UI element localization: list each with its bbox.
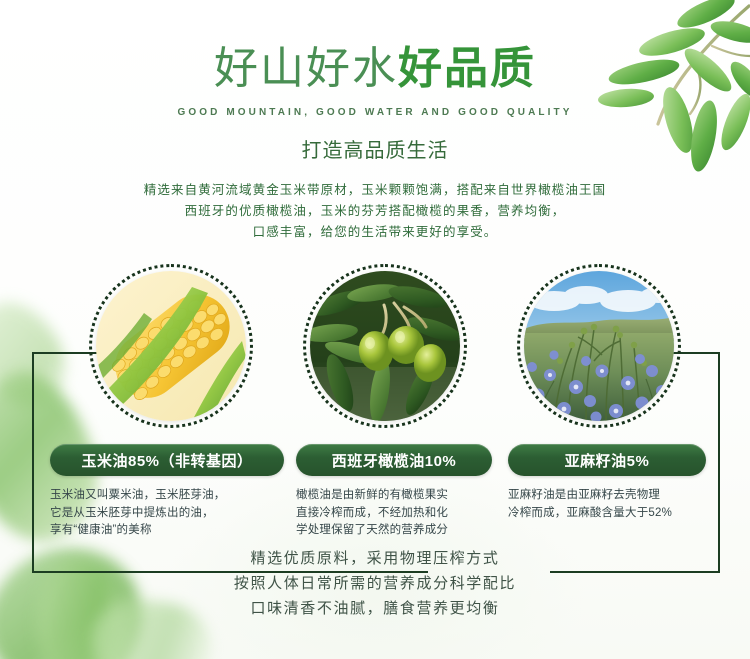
blurb-line: 玉米油又叫粟米油，玉米胚芽油，: [50, 487, 276, 505]
description-line: 口感丰富，给您的生活带来更好的享受。: [0, 222, 750, 243]
footer-line: 精选优质原料，采用物理压榨方式: [0, 546, 750, 571]
title-part-1: 好山好水: [214, 44, 398, 93]
ingredient-image-flax: [524, 271, 674, 421]
ingredient-blurb-flax: 亚麻籽油是由亚麻籽去壳物理 冷榨而成，亚麻酸含量大于52%: [508, 487, 718, 522]
subtitle-english: GOOD MOUNTAIN, GOOD WATER AND GOOD QUALI…: [0, 107, 750, 118]
subtitle-chinese: 打造高品质生活: [0, 134, 750, 163]
ingredient-pill-corn[interactable]: 玉米油85%（非转基因）: [50, 444, 284, 476]
blurb-line: 它是从玉米胚芽中提炼出的油，: [50, 505, 276, 523]
ingredient-blurb-olive: 橄榄油是由新鲜的有橄榄果实 直接冷榨而成，不经加热和化 学处理保留了天然的营养成…: [296, 487, 492, 540]
title-part-2: 好品质: [398, 44, 536, 93]
blurb-line: 橄榄油是由新鲜的有橄榄果实: [296, 487, 492, 505]
footer-line: 按照人体日常所需的营养成分科学配比: [0, 571, 750, 596]
blurb-line: 冷榨而成，亚麻酸含量大于52%: [508, 505, 718, 523]
leaf-blur-shape: [0, 287, 82, 422]
blurb-line: 直接冷榨而成，不经加热和化: [296, 505, 492, 523]
description-line: 精选来自黄河流域黄金玉米带原材，玉米颗颗饱满，搭配来自世界橄榄油王国: [0, 180, 750, 201]
ingredient-blurb-corn: 玉米油又叫粟米油，玉米胚芽油， 它是从玉米胚芽中提炼出的油， 享有“健康油”的美…: [50, 487, 276, 540]
description: 精选来自黄河流域黄金玉米带原材，玉米颗颗饱满，搭配来自世界橄榄油王国 西班牙的优…: [0, 180, 750, 243]
ingredient-image-olive: [310, 271, 460, 421]
ingredient-image-corn: [96, 271, 246, 421]
blurb-line: 学处理保留了天然的营养成分: [296, 522, 492, 540]
header: 好山好水好品质 GOOD MOUNTAIN, GOOD WATER AND GO…: [0, 0, 750, 243]
footer-copy: 精选优质原料，采用物理压榨方式 按照人体日常所需的营养成分科学配比 口味清香不油…: [0, 546, 750, 621]
ingredient-pill-flax[interactable]: 亚麻籽油5%: [508, 444, 706, 476]
page-title: 好山好水好品质: [0, 43, 750, 95]
flax-photo: [524, 271, 674, 421]
ingredient-pill-olive[interactable]: 西班牙橄榄油10%: [296, 444, 492, 476]
corn-photo: [96, 271, 246, 421]
promo-banner: 好山好水好品质 GOOD MOUNTAIN, GOOD WATER AND GO…: [0, 0, 750, 659]
olive-photo: [310, 271, 460, 421]
footer-line: 口味清香不油腻，膳食营养更均衡: [0, 596, 750, 621]
blurb-line: 亚麻籽油是由亚麻籽去壳物理: [508, 487, 718, 505]
blurb-line: 享有“健康油”的美称: [50, 522, 276, 540]
description-line: 西班牙的优质橄榄油，玉米的芬芳搭配橄榄的果香，营养均衡，: [0, 201, 750, 222]
